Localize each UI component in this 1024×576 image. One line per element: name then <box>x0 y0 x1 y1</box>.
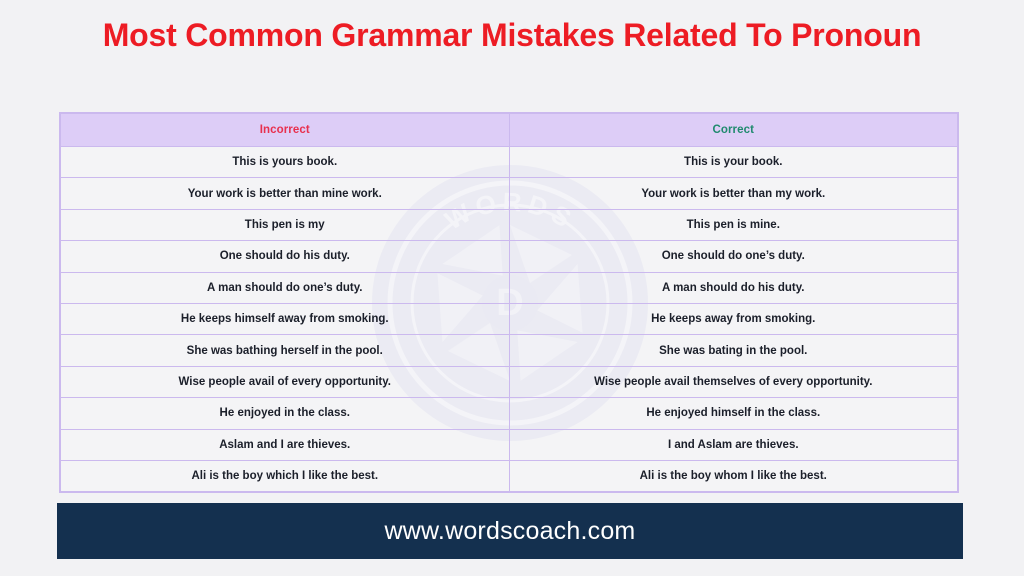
table-row: Aslam and I are thieves. I and Aslam are… <box>61 429 958 460</box>
table-row: He keeps himself away from smoking. He k… <box>61 303 958 334</box>
cell-incorrect: He keeps himself away from smoking. <box>61 303 510 334</box>
table-header-row: Incorrect Correct <box>61 114 958 147</box>
cell-incorrect: He enjoyed in the class. <box>61 398 510 429</box>
cell-incorrect: She was bathing herself in the pool. <box>61 335 510 366</box>
table-row: She was bathing herself in the pool. She… <box>61 335 958 366</box>
cell-incorrect: One should do his duty. <box>61 241 510 272</box>
cell-correct: This pen is mine. <box>509 209 958 240</box>
cell-incorrect: Wise people avail of every opportunity. <box>61 366 510 397</box>
cell-correct: Ali is the boy whom I like the best. <box>509 460 958 491</box>
cell-correct: A man should do his duty. <box>509 272 958 303</box>
table-row: He enjoyed in the class. He enjoyed hims… <box>61 398 958 429</box>
footer-bar: www.wordscoach.com <box>57 503 963 559</box>
table-row: Ali is the boy which I like the best. Al… <box>61 460 958 491</box>
table-row: This pen is my This pen is mine. <box>61 209 958 240</box>
cell-correct: He keeps away from smoking. <box>509 303 958 334</box>
infographic-page: Most Common Grammar Mistakes Related To … <box>0 0 1024 576</box>
cell-correct: She was bating in the pool. <box>509 335 958 366</box>
cell-correct: He enjoyed himself in the class. <box>509 398 958 429</box>
table-row: This is yours book. This is your book. <box>61 147 958 178</box>
cell-correct: I and Aslam are thieves. <box>509 429 958 460</box>
cell-incorrect: Your work is better than mine work. <box>61 178 510 209</box>
table-row: A man should do one’s duty. A man should… <box>61 272 958 303</box>
cell-correct: This is your book. <box>509 147 958 178</box>
cell-correct: One should do one’s duty. <box>509 241 958 272</box>
column-header-correct: Correct <box>509 114 958 147</box>
cell-incorrect: This is yours book. <box>61 147 510 178</box>
grammar-table: Incorrect Correct This is yours book. Th… <box>60 113 958 492</box>
cell-incorrect: Ali is the boy which I like the best. <box>61 460 510 491</box>
cell-correct: Wise people avail themselves of every op… <box>509 366 958 397</box>
table-body: This is yours book. This is your book. Y… <box>61 147 958 492</box>
cell-correct: Your work is better than my work. <box>509 178 958 209</box>
grammar-table-container: WORDS D <box>59 112 959 493</box>
table-header: Incorrect Correct <box>61 114 958 147</box>
cell-incorrect: This pen is my <box>61 209 510 240</box>
column-header-incorrect: Incorrect <box>61 114 510 147</box>
table-row: One should do his duty. One should do on… <box>61 241 958 272</box>
cell-incorrect: A man should do one’s duty. <box>61 272 510 303</box>
table-row: Wise people avail of every opportunity. … <box>61 366 958 397</box>
page-title: Most Common Grammar Mistakes Related To … <box>60 14 964 56</box>
footer-website-url[interactable]: www.wordscoach.com <box>385 517 636 546</box>
table-row: Your work is better than mine work. Your… <box>61 178 958 209</box>
cell-incorrect: Aslam and I are thieves. <box>61 429 510 460</box>
